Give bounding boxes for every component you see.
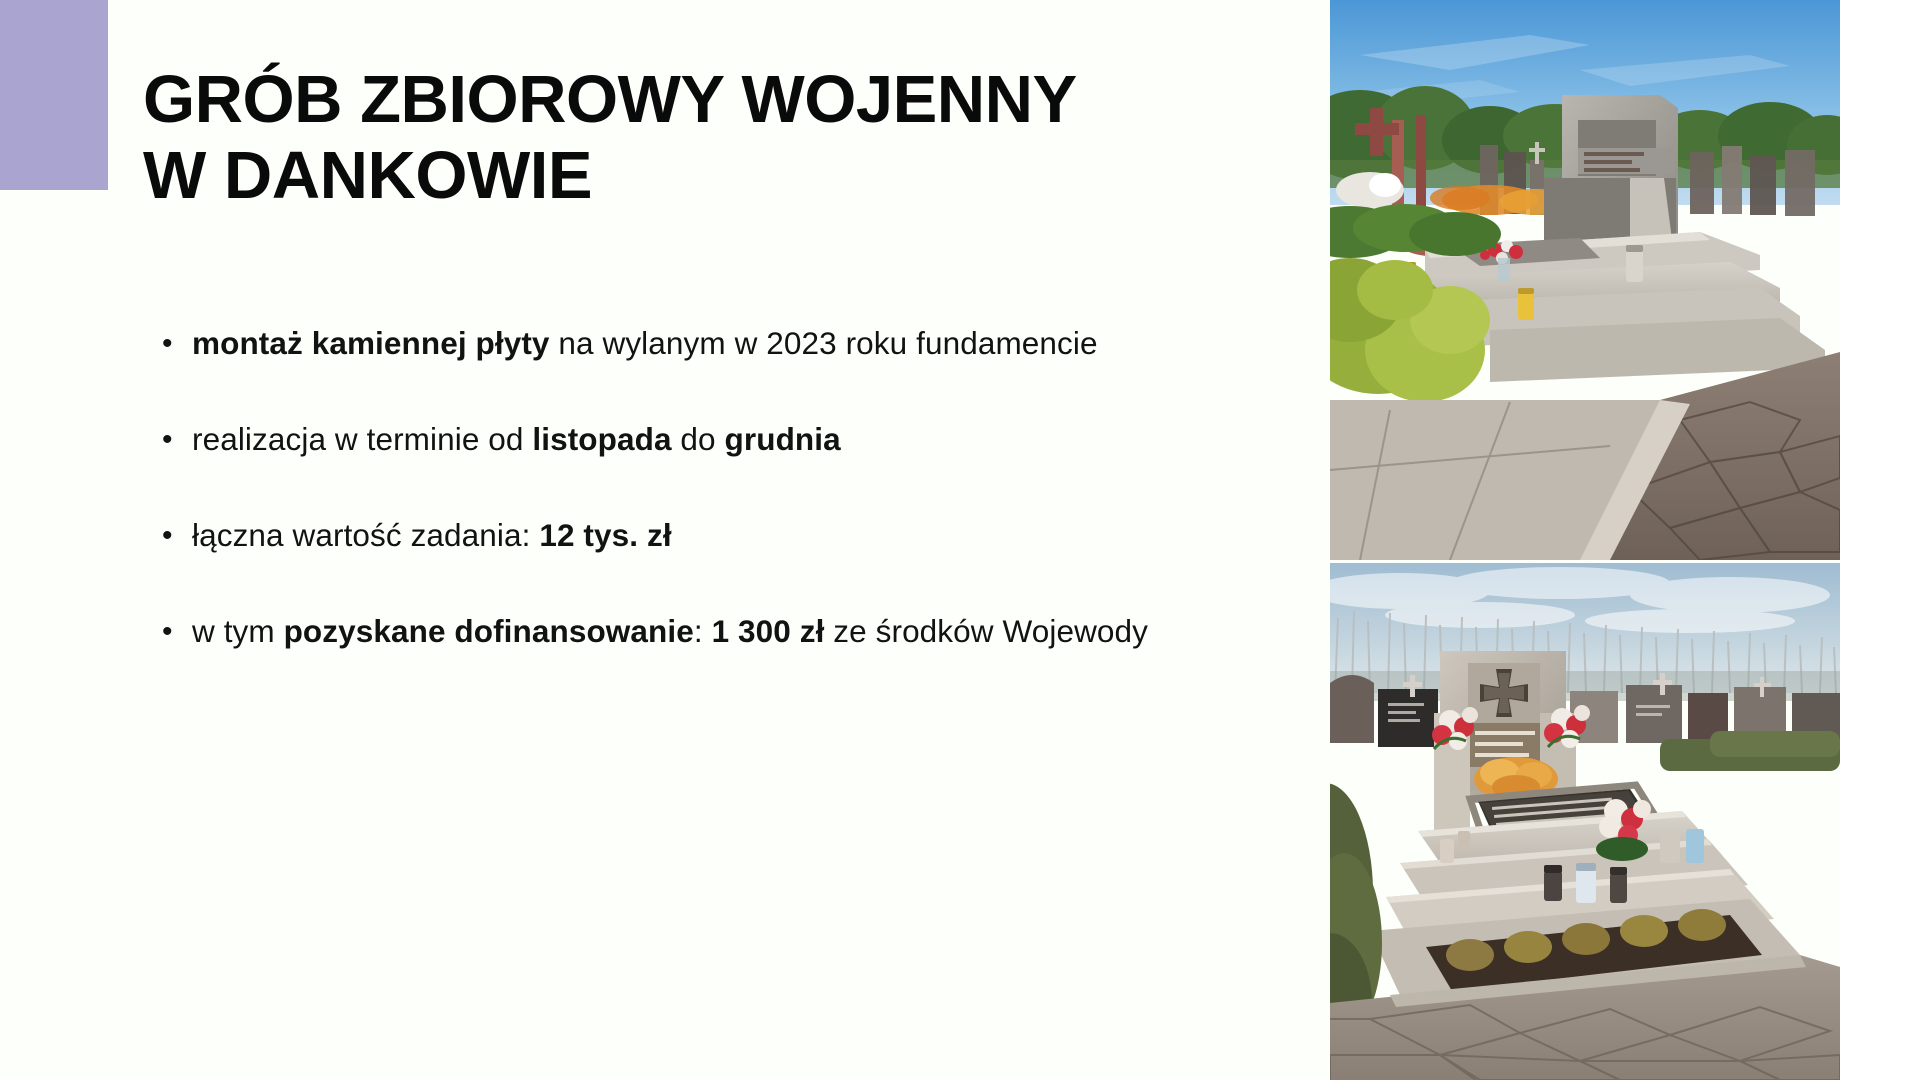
photo-grob-zima [1330, 563, 1840, 1080]
page-title: GRÓB ZBIOROWY WOJENNY W DANKOWIE [143, 62, 1203, 213]
plain-text: do [672, 421, 725, 457]
bullet-marker-icon: • [162, 512, 192, 560]
list-item-text: realizacja w terminie od listopada do gr… [192, 416, 1272, 463]
list-item-montaz-plyty: • montaż kamiennej płyty na wylanym w 20… [162, 320, 1272, 368]
list-item-text: łączna wartość zadania: 12 tys. zł [192, 512, 1272, 559]
bullet-marker-icon: • [162, 608, 192, 656]
photo-grob-lato-graphic [1330, 0, 1840, 560]
decorative-accent-block [0, 0, 108, 190]
slide-content-area: GRÓB ZBIOROWY WOJENNY W DANKOWIE • monta… [0, 0, 1330, 1080]
photo-grob-zima-graphic [1330, 563, 1840, 1080]
list-item-wartosc-zadania: • łączna wartość zadania: 12 tys. zł [162, 512, 1272, 560]
list-item-dofinansowanie: • w tym pozyskane dofinansowanie: 1 300 … [162, 608, 1272, 656]
bullet-list: • montaż kamiennej płyty na wylanym w 20… [162, 320, 1272, 656]
plain-text: łączna wartość zadania: [192, 517, 539, 553]
list-item-text: montaż kamiennej płyty na wylanym w 2023… [192, 320, 1272, 367]
plain-text: na wylanym w 2023 roku fundamencie [550, 325, 1098, 361]
plain-text: w tym [192, 613, 284, 649]
bullet-marker-icon: • [162, 416, 192, 464]
plain-text: realizacja w terminie od [192, 421, 532, 457]
list-item-text: w tym pozyskane dofinansowanie: 1 300 zł… [192, 608, 1272, 655]
list-item-termin-realizacji: • realizacja w terminie od listopada do … [162, 416, 1272, 464]
bullet-marker-icon: • [162, 320, 192, 368]
photo-column [1330, 0, 1840, 1080]
emphasis-text: pozyskane dofinansowanie [284, 613, 694, 649]
photo-grob-lato [1330, 0, 1840, 560]
page-title-line-1: GRÓB ZBIOROWY WOJENNY [143, 62, 1203, 138]
plain-text: ze środków Wojewody [824, 613, 1148, 649]
right-margin-strip [1840, 0, 1920, 1080]
emphasis-text: grudnia [725, 421, 841, 457]
emphasis-text: listopada [532, 421, 671, 457]
emphasis-text: montaż kamiennej płyty [192, 325, 550, 361]
emphasis-text: 1 300 zł [712, 613, 825, 649]
emphasis-text: 12 tys. zł [539, 517, 671, 553]
presentation-slide: GRÓB ZBIOROWY WOJENNY W DANKOWIE • monta… [0, 0, 1920, 1080]
plain-text: : [694, 613, 712, 649]
page-title-line-2: W DANKOWIE [143, 138, 1203, 214]
